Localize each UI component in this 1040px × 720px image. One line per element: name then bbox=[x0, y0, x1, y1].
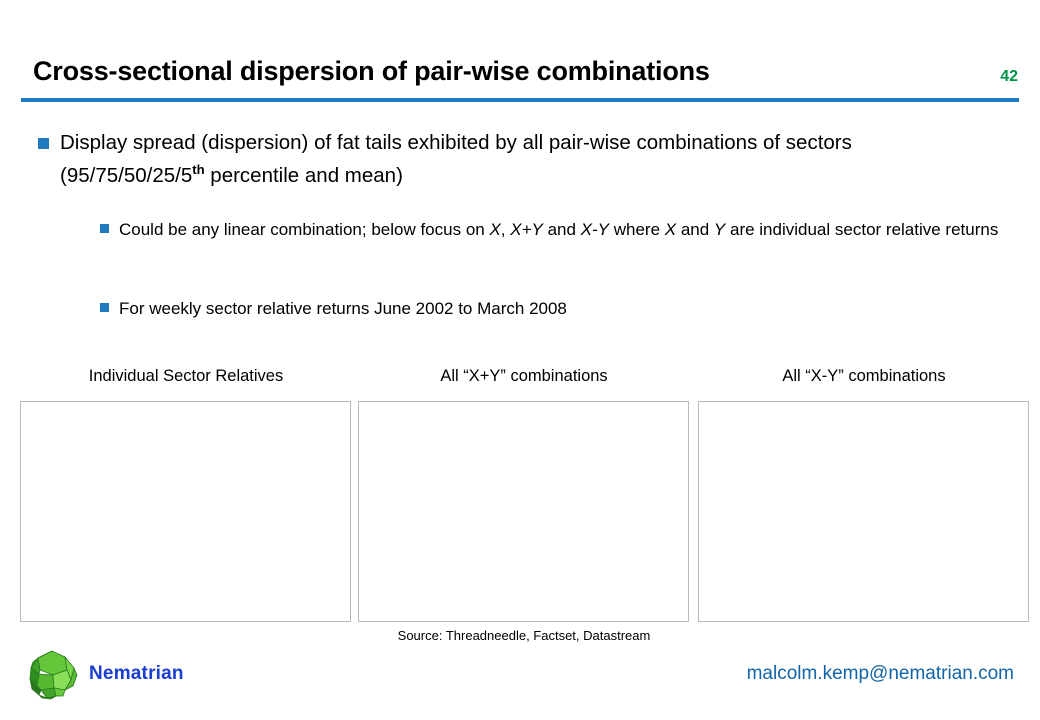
slide-canvas: Cross-sectional dispersion of pair-wise … bbox=[0, 0, 1040, 720]
qq-plot-xplusy-combinations[interactable] bbox=[358, 401, 689, 622]
bullet-marker-icon bbox=[100, 224, 109, 233]
qq-plot-xminusy-combinations[interactable] bbox=[698, 401, 1029, 622]
bullet-text-3: For weekly sector relative returns June … bbox=[119, 297, 567, 321]
bullet-item-3: For weekly sector relative returns June … bbox=[100, 297, 1000, 321]
bullet-text-1: Display spread (dispersion) of fat tails… bbox=[60, 129, 998, 189]
page-number: 42 bbox=[1000, 68, 1018, 86]
contact-email[interactable]: malcolm.kemp@nematrian.com bbox=[747, 663, 1014, 685]
source-note: Source: Threadneedle, Factset, Datastrea… bbox=[358, 628, 690, 643]
bullet-marker-icon bbox=[38, 138, 49, 149]
bullet-item-2: Could be any linear combination; below f… bbox=[100, 218, 1000, 242]
bullet-text-2: Could be any linear combination; below f… bbox=[119, 218, 998, 242]
qq-plot-individual-sector-relatives[interactable] bbox=[20, 401, 351, 622]
bullet-marker-icon bbox=[100, 303, 109, 312]
chart-caption-individual-sector-relatives: Individual Sector Relatives bbox=[20, 367, 352, 386]
brand-block: Nematrian bbox=[25, 648, 184, 700]
page-title: Cross-sectional dispersion of pair-wise … bbox=[33, 56, 933, 87]
bullet-item-1: Display spread (dispersion) of fat tails… bbox=[38, 129, 998, 189]
chart-caption-xminusy-combinations: All “X-Y” combinations bbox=[698, 367, 1030, 386]
brand-name: Nematrian bbox=[89, 663, 184, 685]
chart-caption-xplusy-combinations: All “X+Y” combinations bbox=[358, 367, 690, 386]
polyhedron-logo-icon bbox=[25, 648, 79, 700]
title-divider bbox=[21, 98, 1019, 102]
